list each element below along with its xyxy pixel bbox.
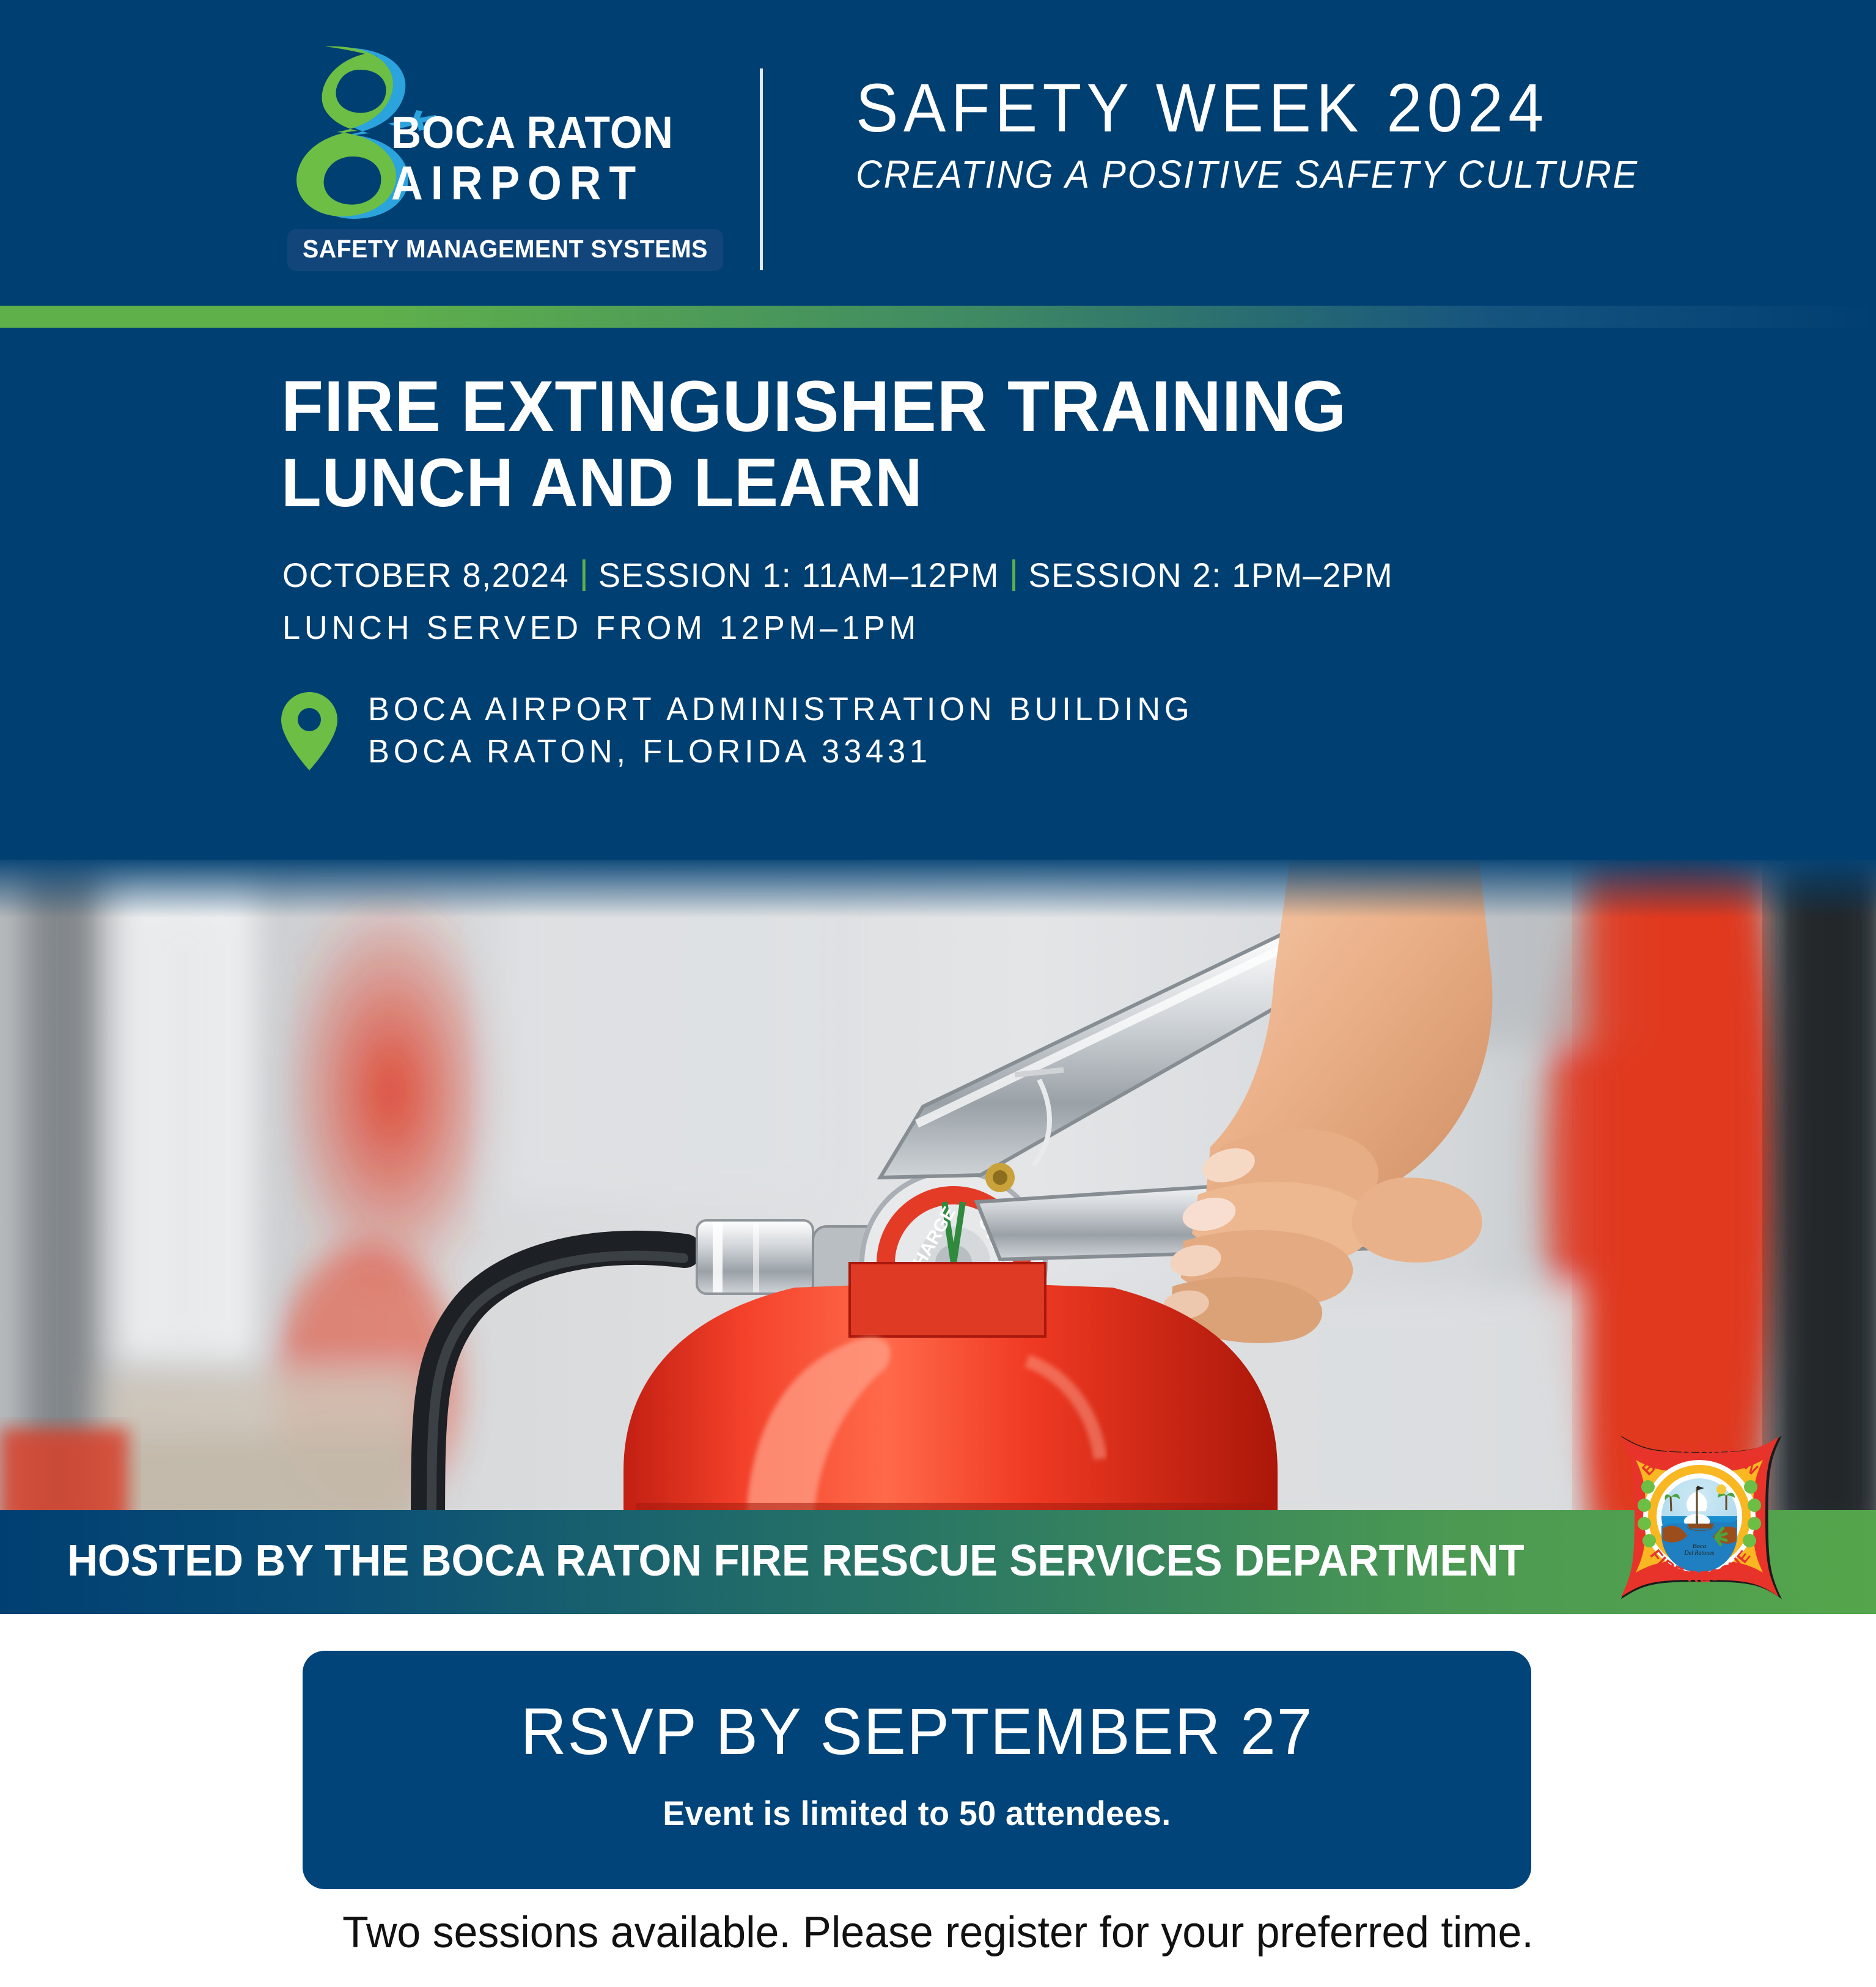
safety-management-systems-badge: SAFETY MANAGEMENT SYSTEMS xyxy=(287,229,723,271)
schedule-separator-1 xyxy=(583,559,586,591)
footnote-text: Two sessions available. Please register … xyxy=(342,1908,1534,1958)
rsvp-panel[interactable]: RSVP BY SEPTEMBER 27 Event is limited to… xyxy=(303,1651,1531,1889)
footnote: Two sessions available. Please register … xyxy=(0,1908,1876,1958)
event-info-panel: FIRE EXTINGUISHER TRAINING LUNCH AND LEA… xyxy=(0,328,1876,860)
campaign-heading-block: SAFETY WEEK 2024 CREATING A POSITIVE SAF… xyxy=(856,73,1834,196)
event-address: BOCA AIRPORT ADMINISTRATION BUILDING BOC… xyxy=(368,688,1193,773)
header-vertical-divider xyxy=(760,68,763,270)
boca-raton-fire-rescue-badge-icon: Boca Del Ratones BOCA RATON FIRE RESCUE xyxy=(1595,1406,1803,1623)
logo-line-boca-raton: BOCA RATON xyxy=(391,110,674,155)
green-accent-rule xyxy=(0,306,1876,328)
map-pin-icon xyxy=(281,692,337,770)
campaign-tagline: CREATING A POSITIVE SAFETY CULTURE xyxy=(856,153,1765,196)
event-session-1: SESSION 1: 11AM–12PM xyxy=(598,555,999,595)
brand-logo: BOCA RATON AIRPORT SAFETY MANAGEMENT SYS… xyxy=(269,37,721,275)
event-title: FIRE EXTINGUISHER TRAINING xyxy=(281,370,1347,443)
logo-line-airport: AIRPORT xyxy=(391,159,674,207)
event-city-state-zip: BOCA RATON, FLORIDA 33431 xyxy=(368,733,932,770)
rsvp-title: RSVP BY SEPTEMBER 27 xyxy=(327,1651,1507,1764)
campaign-title: SAFETY WEEK 2024 xyxy=(856,73,1765,143)
event-lunch-line: LUNCH SERVED FROM 12PM–1PM xyxy=(282,609,920,647)
logo-wordmark: BOCA RATON AIRPORT xyxy=(391,110,698,207)
event-schedule-line: OCTOBER 8,2024 SESSION 1: 11AM–12PM SESS… xyxy=(282,555,1393,595)
event-date: OCTOBER 8,2024 xyxy=(282,555,569,595)
photo-top-tint xyxy=(0,860,1876,918)
event-venue: BOCA AIRPORT ADMINISTRATION BUILDING xyxy=(368,691,1193,728)
rsvp-subtitle: Event is limited to 50 attendees. xyxy=(327,1796,1507,1830)
event-subtitle: LUNCH AND LEARN xyxy=(281,449,923,517)
hosted-by-text: HOSTED BY THE BOCA RATON FIRE RESCUE SER… xyxy=(67,1536,1525,1586)
svg-text:Boca: Boca xyxy=(1693,1543,1707,1550)
event-location-block: BOCA AIRPORT ADMINISTRATION BUILDING BOC… xyxy=(281,688,1219,773)
event-session-2: SESSION 2: 1PM–2PM xyxy=(1028,555,1393,595)
fire-extinguisher-photo: RECHARGE OVERCHARGED xyxy=(0,860,1876,1538)
header-bar: BOCA RATON AIRPORT SAFETY MANAGEMENT SYS… xyxy=(0,0,1876,306)
flyer-page: BOCA RATON AIRPORT SAFETY MANAGEMENT SYS… xyxy=(0,0,1876,1987)
svg-text:Del Ratones: Del Ratones xyxy=(1683,1550,1714,1557)
schedule-separator-2 xyxy=(1012,559,1015,591)
